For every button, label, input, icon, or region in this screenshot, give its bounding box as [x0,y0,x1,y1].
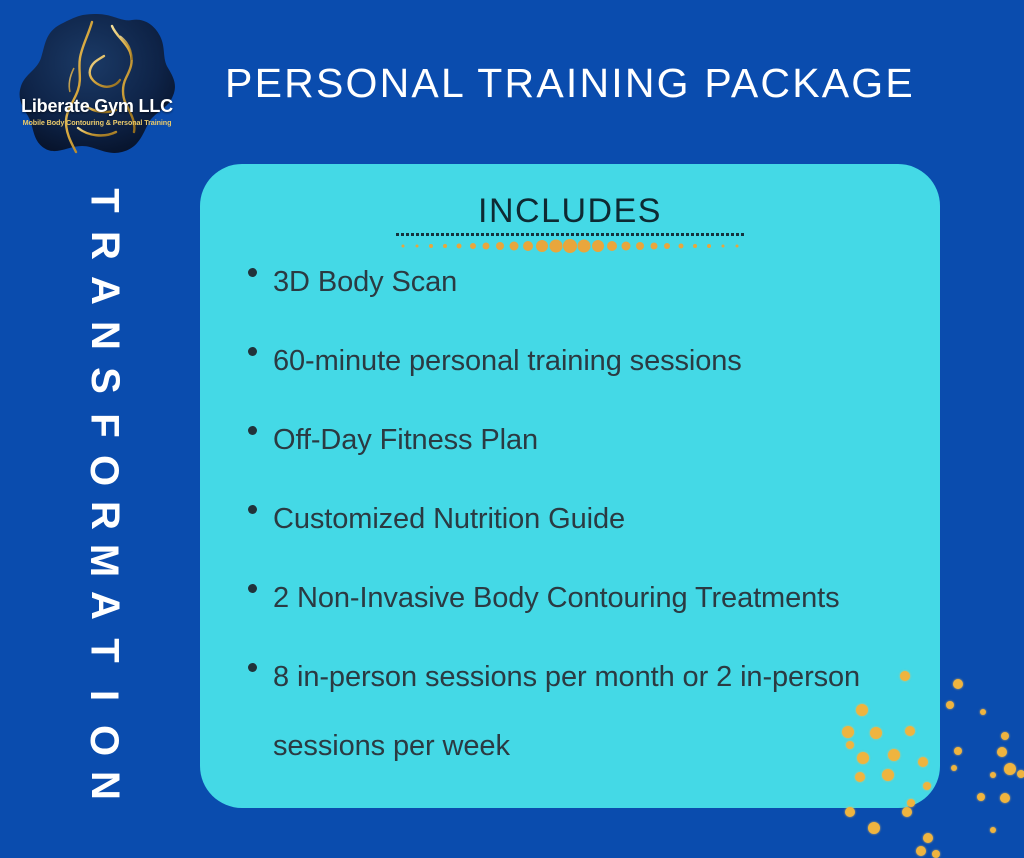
vertical-letter: O [82,455,127,486]
rule-dot [601,233,604,236]
vertical-letter: R [81,501,126,530]
rule-dot [726,233,729,236]
list-item-label: 2 Non-Invasive Body Contouring Treatment… [273,564,840,633]
rule-dot [431,233,434,236]
rule-dot [671,233,674,236]
dotted-rule [396,232,744,236]
rule-dot [706,233,709,236]
rule-dot [441,233,444,236]
glitter-dot [868,822,880,834]
rule-dot [741,233,744,236]
rule-dot [676,233,679,236]
rule-dot [626,233,629,236]
list-item-label: 3D Body Scan [273,248,457,317]
vertical-letter: N [81,321,126,350]
vertical-letter: R [81,231,126,260]
includes-card: INCLUDES 3D Body Scan60-minute personal … [200,164,940,808]
vertical-letter: S [82,367,127,394]
list-item: 3D Body Scan [248,248,908,317]
rule-dot [571,233,574,236]
vertical-letter: F [82,413,127,437]
rule-dot [556,233,559,236]
glitter-dot [1001,732,1009,740]
vertical-letter: A [81,276,126,305]
rule-dot [516,233,519,236]
rule-dot [416,233,419,236]
rule-dot [606,233,609,236]
glitter-dot [845,807,855,817]
rule-dot [636,233,639,236]
rule-dot [581,233,584,236]
rule-dot [531,233,534,236]
rule-dot [461,233,464,236]
rule-dot [491,233,494,236]
rule-dot [406,233,409,236]
rule-dot [436,233,439,236]
glitter-dot [954,747,962,755]
rule-dot [551,233,554,236]
glitter-dot [1000,793,1010,803]
includes-list: 3D Body Scan60-minute personal training … [248,248,908,791]
rule-dot [526,233,529,236]
rule-dot [486,233,489,236]
glitter-dot [997,747,1007,757]
rule-dot [561,233,564,236]
list-item: 8 in-person sessions per month or 2 in-p… [248,643,908,781]
list-item: 60-minute personal training sessions [248,327,908,396]
vertical-word-transformation: TRANSFORMATION [72,178,136,808]
list-item: 2 Non-Invasive Body Contouring Treatment… [248,564,908,633]
rule-dot [456,233,459,236]
vertical-letter: M [81,544,126,577]
rule-dot [511,233,514,236]
rule-dot [576,233,579,236]
list-item-label: 8 in-person sessions per month or 2 in-p… [273,643,908,781]
logo-tagline: Mobile Body Contouring & Personal Traini… [16,118,178,127]
rule-dot [711,233,714,236]
poster-canvas: Liberate Gym LLC Mobile Body Contouring … [0,0,1024,858]
rule-dot [646,233,649,236]
rule-dot [611,233,614,236]
bullet-dot-icon [248,347,257,356]
brand-logo: Liberate Gym LLC Mobile Body Contouring … [16,8,178,160]
rule-dot [691,233,694,236]
rule-dot [396,233,399,236]
rule-dot [656,233,659,236]
rule-dot [686,233,689,236]
bullet-dot-icon [248,505,257,514]
bullet-dot-icon [248,426,257,435]
rule-dot [716,233,719,236]
glitter-dot [980,709,986,715]
rule-dot [666,233,669,236]
rule-dot [566,233,569,236]
vertical-letter: A [81,591,126,620]
rule-dot [736,233,739,236]
rule-dot [731,233,734,236]
glitter-dot [951,765,957,771]
rule-dot [701,233,704,236]
glitter-dot [953,679,963,689]
rule-dot [536,233,539,236]
rule-dot [521,233,524,236]
rule-dot [631,233,634,236]
vertical-letter: T [82,188,127,212]
rule-dot [586,233,589,236]
vertical-letter: O [82,725,127,756]
glitter-dot [946,701,954,709]
vertical-letter: I [82,690,127,701]
list-item: Off-Day Fitness Plan [248,406,908,475]
rule-dot [506,233,509,236]
logo-name: Liberate Gym LLC [16,96,178,117]
rule-dot [696,233,699,236]
glitter-dot [977,793,985,801]
rule-dot [681,233,684,236]
rule-dot [651,233,654,236]
list-item-label: Off-Day Fitness Plan [273,406,538,475]
rule-dot [466,233,469,236]
glitter-dot [916,846,926,856]
rule-dot [426,233,429,236]
rule-dot [471,233,474,236]
rule-dot [476,233,479,236]
glitter-dot [902,807,912,817]
glitter-dot [1017,770,1024,778]
list-item: Customized Nutrition Guide [248,485,908,554]
rule-dot [661,233,664,236]
list-item-label: Customized Nutrition Guide [273,485,625,554]
glitter-dot [990,772,996,778]
rule-dot [496,233,499,236]
rule-dot [481,233,484,236]
rule-dot [641,233,644,236]
rule-dot [596,233,599,236]
glitter-dot [932,850,940,858]
list-item-label: 60-minute personal training sessions [273,327,742,396]
rule-dot [546,233,549,236]
bullet-dot-icon [248,268,257,277]
glitter-dot [990,827,996,833]
rule-dot [621,233,624,236]
rule-dot [591,233,594,236]
glitter-dot [923,833,933,843]
rule-dot [446,233,449,236]
rule-dot [501,233,504,236]
rule-dot [401,233,404,236]
vertical-letter: N [81,771,126,800]
rule-dot [451,233,454,236]
rule-dot [421,233,424,236]
page-title: PERSONAL TRAINING PACKAGE [200,60,940,107]
rule-dot [616,233,619,236]
includes-heading: INCLUDES [200,192,940,231]
bullet-dot-icon [248,663,257,672]
glitter-dot [1004,763,1016,775]
bullet-dot-icon [248,584,257,593]
rule-dot [721,233,724,236]
rule-dot [411,233,414,236]
vertical-letter: T [82,638,127,662]
rule-dot [541,233,544,236]
logo-blob-icon [16,8,178,160]
